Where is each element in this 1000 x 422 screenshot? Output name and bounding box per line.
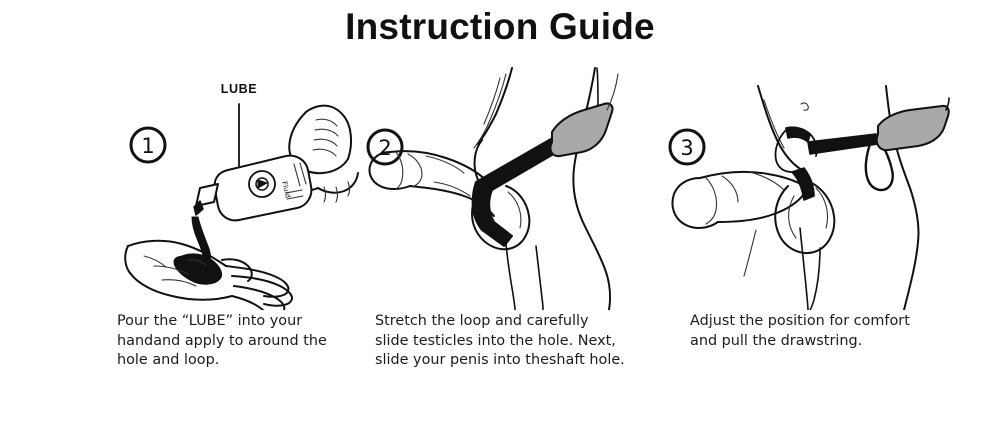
page-title: Instruction Guide [0, 6, 1000, 48]
step-panel-2: 2 [360, 60, 660, 400]
stretched-loop [473, 136, 564, 246]
step-number-badge-1: 1 [131, 128, 165, 162]
step-panel-3: 3 [660, 60, 950, 400]
step-1-caption: Pour the “LUBE” into your handand apply … [117, 312, 352, 371]
step-2-illustration: 2 [360, 60, 660, 310]
step-2-caption: Stretch the loop and carefully slide tes… [375, 312, 625, 371]
lube-label: LUBE [221, 82, 257, 96]
step-number: 3 [680, 136, 693, 160]
step-3-caption: Adjust the position for comfort and pull… [690, 312, 935, 351]
harness-ring [775, 127, 878, 200]
step-number: 2 [378, 136, 391, 160]
step-number-badge-3: 3 [670, 130, 704, 164]
drawstring-grommet [868, 136, 876, 144]
shaft [672, 172, 810, 228]
step-1-illustration: LUBE 1 [110, 60, 360, 310]
step-3-illustration: 3 [660, 60, 950, 310]
gray-strap-tab [877, 106, 949, 150]
step-panel-1: LUBE 1 [110, 60, 360, 400]
step-number: 1 [141, 134, 154, 158]
gray-strap-tab [550, 103, 612, 156]
lube-bottle: Fluid [194, 156, 311, 221]
